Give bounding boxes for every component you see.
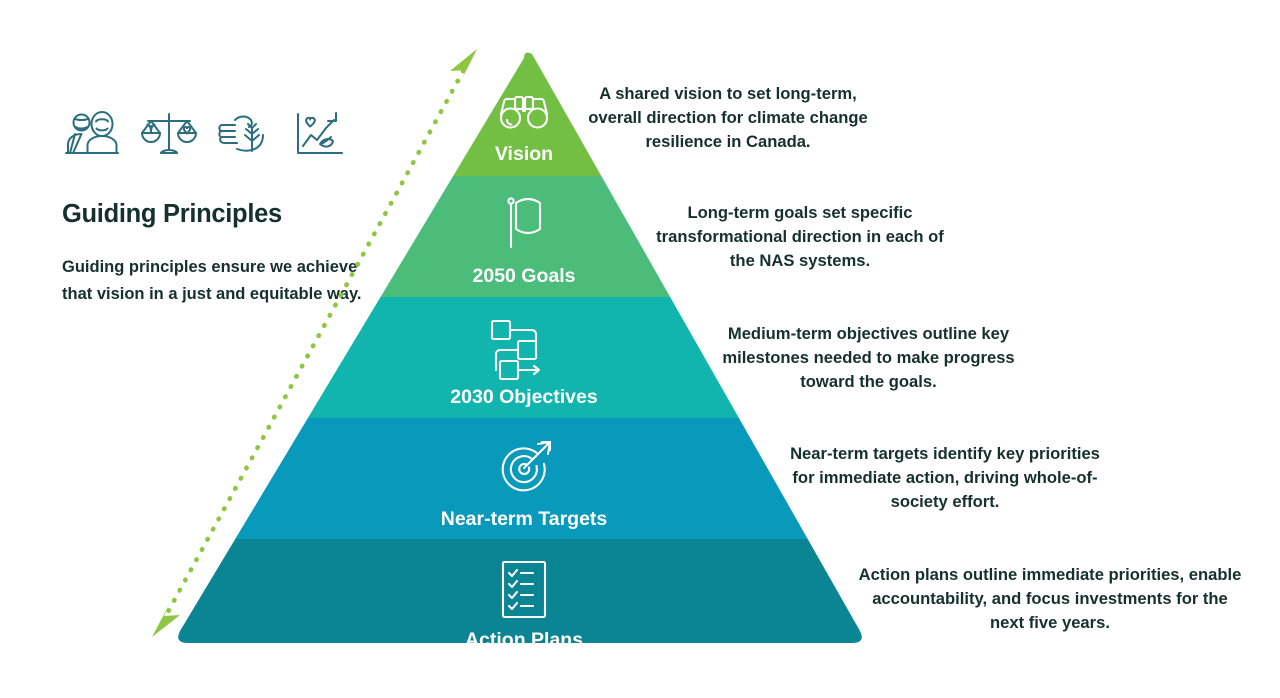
description-vision: A shared vision to set long-term, overal… (573, 82, 883, 154)
tier-label-vision: Vision (495, 143, 553, 165)
tier-label-targets: Near-term Targets (441, 508, 608, 530)
two-people-icon (62, 108, 124, 164)
tier-label-actions: Action Plans (465, 629, 583, 651)
arrow-head-up-icon (450, 49, 477, 83)
infographic-root: Guiding Principles Guiding principles en… (0, 0, 1280, 698)
description-actions: Action plans outline immediate prioritie… (855, 563, 1245, 635)
description-objectives: Medium-term objectives outline key miles… (706, 322, 1031, 394)
tier-label-goals: 2050 Goals (473, 265, 576, 287)
description-goals: Long-term goals set specific transformat… (645, 201, 955, 273)
tier-label-objectives: 2030 Objectives (450, 386, 598, 408)
arrow-head-down-icon (152, 603, 180, 637)
description-targets: Near-term targets identify key prioritie… (780, 442, 1110, 514)
